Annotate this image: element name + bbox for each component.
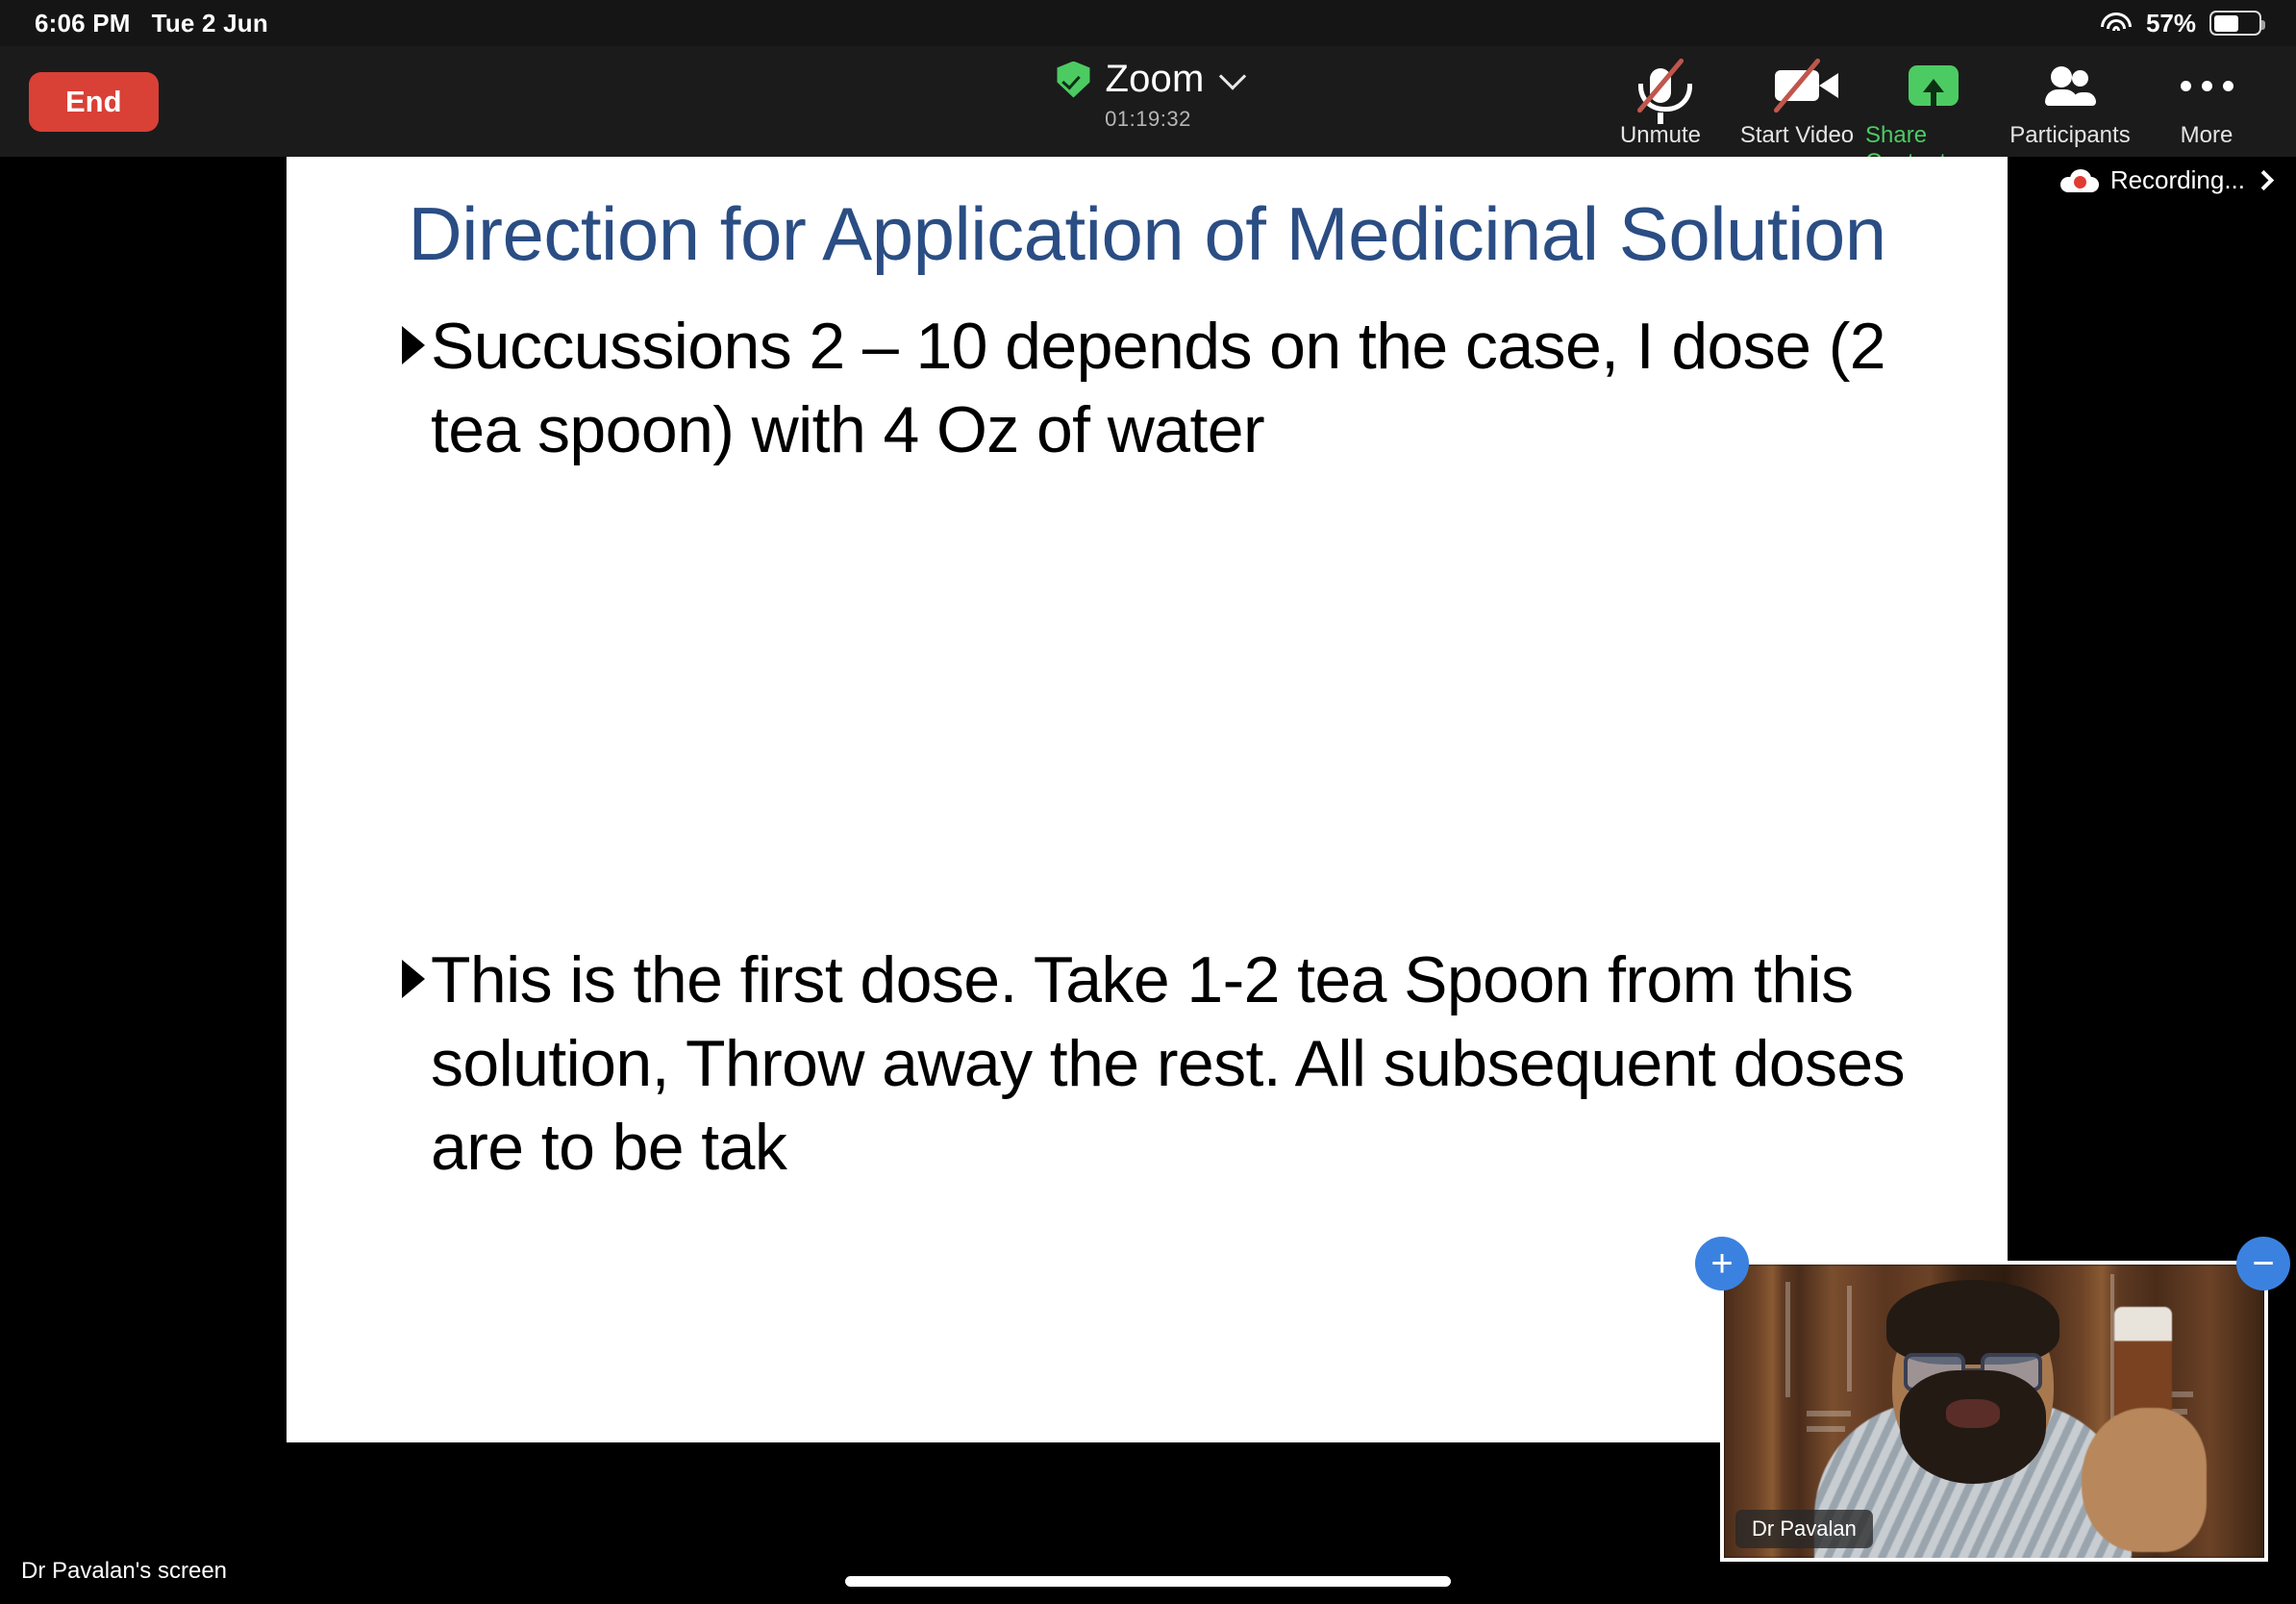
status-time: 6:06 PM	[35, 9, 131, 38]
screen-share-label: Dr Pavalan's screen	[21, 1558, 227, 1585]
end-meeting-button[interactable]: End	[29, 72, 159, 132]
slide-bullet-item: Succussions 2 – 10 depends on the case, …	[402, 305, 1969, 472]
meeting-title-block[interactable]: Zoom 01:19:32	[1057, 58, 1238, 132]
more-dots-icon	[2181, 58, 2234, 113]
participants-icon	[2043, 58, 2097, 113]
cloud-recording-icon	[2060, 169, 2099, 192]
shared-slide: Direction for Application of Medicinal S…	[287, 157, 2008, 1442]
zoom-meeting-screen: 6:06 PM Tue 2 Jun 57% End Zoom 01:19:32	[0, 0, 2296, 1604]
video-camera-off-icon	[1775, 58, 1819, 113]
unmute-button[interactable]: Unmute	[1592, 52, 1729, 149]
meeting-title-row[interactable]: Zoom	[1057, 58, 1238, 101]
participant-name-label: Dr Pavalan	[1735, 1510, 1873, 1548]
status-bar-left: 6:06 PM Tue 2 Jun	[35, 9, 268, 38]
zoom-top-toolbar: End Zoom 01:19:32 Unmute Start Video	[0, 46, 2296, 157]
more-label: More	[2181, 122, 2234, 149]
meeting-name-label: Zoom	[1105, 58, 1204, 101]
recording-indicator[interactable]: Recording...	[2060, 165, 2271, 195]
start-video-button[interactable]: Start Video	[1729, 52, 1865, 149]
cabinet-detail	[1807, 1411, 1851, 1416]
participant-head	[1892, 1290, 2054, 1478]
slide-bullet-list: Succussions 2 – 10 depends on the case, …	[287, 305, 2008, 1190]
wifi-icon	[2100, 11, 2133, 36]
microphone-muted-icon	[1650, 58, 1671, 113]
battery-percent-label: 57%	[2146, 9, 2196, 38]
recording-label: Recording...	[2110, 165, 2245, 195]
cabinet-detail	[1785, 1282, 1790, 1397]
participant-mouth	[1946, 1399, 2000, 1428]
share-screen-icon	[1909, 58, 1959, 113]
plus-circle-icon[interactable]: +	[1695, 1237, 1749, 1291]
participants-button[interactable]: Participants	[2002, 52, 2138, 149]
status-date: Tue 2 Jun	[152, 9, 268, 38]
slide-bullet-text: This is the first dose. Take 1-2 tea Spo…	[431, 939, 1969, 1190]
participant-hair	[1886, 1280, 2059, 1365]
battery-icon	[2209, 11, 2261, 36]
slide-bullet-text: Succussions 2 – 10 depends on the case, …	[431, 305, 1969, 472]
ios-status-bar: 6:06 PM Tue 2 Jun 57%	[0, 0, 2296, 46]
unmute-label: Unmute	[1620, 122, 1701, 149]
start-video-label: Start Video	[1740, 122, 1854, 149]
slide-title: Direction for Application of Medicinal S…	[354, 195, 1940, 272]
shield-check-icon	[1057, 62, 1089, 98]
cabinet-detail	[1847, 1286, 1852, 1391]
participants-label: Participants	[2009, 122, 2130, 149]
self-view-video-tile[interactable]: Dr Pavalan	[1720, 1261, 2268, 1562]
cabinet-detail	[1807, 1426, 1845, 1432]
status-bar-right: 57%	[2100, 9, 2261, 38]
minus-circle-icon[interactable]: −	[2236, 1237, 2290, 1291]
triangle-bullet-icon	[402, 960, 425, 998]
chevron-right-icon[interactable]	[2254, 170, 2274, 190]
meeting-timer: 01:19:32	[1105, 107, 1191, 132]
participant-hand	[2082, 1408, 2207, 1552]
triangle-bullet-icon	[402, 326, 425, 364]
chevron-down-icon[interactable]	[1219, 63, 1246, 89]
home-indicator[interactable]	[845, 1576, 1451, 1587]
slide-bullet-item: This is the first dose. Take 1-2 tea Spo…	[402, 939, 1969, 1190]
more-button[interactable]: More	[2138, 52, 2275, 149]
